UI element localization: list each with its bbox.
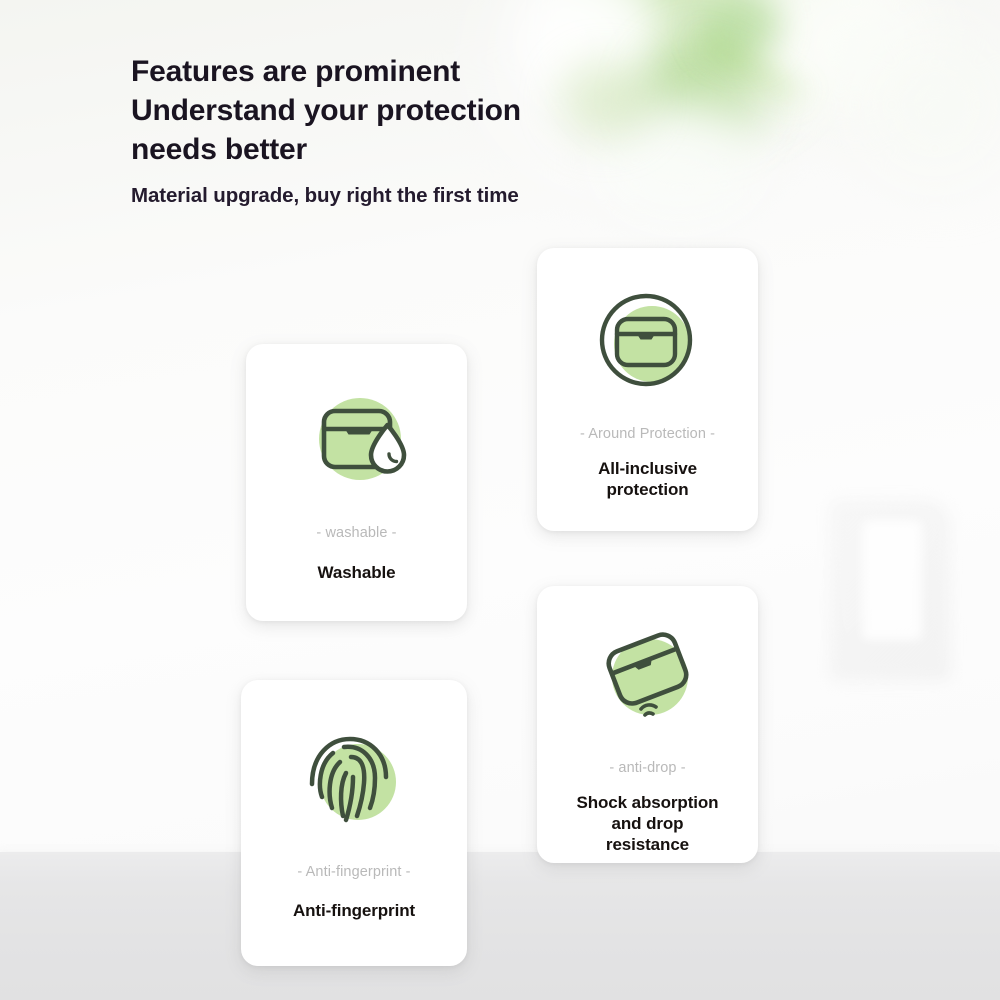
- headline-line-2: Understand your protection: [131, 91, 771, 130]
- headline-line-3: needs better: [131, 130, 771, 169]
- washable-icon-wrap: [298, 389, 416, 489]
- background-object-highlight: [862, 520, 922, 640]
- around-protection-icon-wrap: [592, 286, 704, 398]
- around-protection-title: All-inclusive protection: [598, 458, 697, 500]
- fingerprint-icon: [301, 728, 407, 832]
- headline-line-1: Features are prominent: [131, 52, 771, 91]
- feature-card-anti-fingerprint[interactable]: - Anti-fingerprint - Anti-fingerprint: [241, 680, 467, 966]
- around-protection-title-line-1: All-inclusive: [598, 458, 697, 479]
- feature-card-washable[interactable]: - washable - Washable: [246, 344, 467, 621]
- poster-canvas: Features are prominent Understand your p…: [0, 0, 1000, 1000]
- case-in-ring-icon: [592, 286, 704, 398]
- anti-drop-title-line-2: and drop: [577, 813, 719, 834]
- washable-title: Washable: [318, 562, 396, 583]
- anti-drop-caption: - anti-drop -: [609, 760, 685, 776]
- washable-caption: - washable -: [316, 525, 396, 541]
- around-protection-caption: - Around Protection -: [580, 426, 715, 442]
- table-surface: [0, 852, 1000, 1000]
- anti-drop-title-line-1: Shock absorption: [577, 792, 719, 813]
- tilted-case-shockwave-icon: [592, 620, 704, 732]
- around-protection-title-line-2: protection: [598, 479, 697, 500]
- case-with-water-drop-icon: [298, 389, 416, 489]
- anti-fingerprint-icon-wrap: [301, 728, 407, 832]
- anti-drop-icon-wrap: [592, 620, 704, 732]
- headline-block: Features are prominent Understand your p…: [131, 52, 771, 208]
- feature-card-around-protection[interactable]: - Around Protection - All-inclusive prot…: [537, 248, 758, 531]
- feature-card-anti-drop[interactable]: - anti-drop - Shock absorption and drop …: [537, 586, 758, 863]
- anti-drop-title: Shock absorption and drop resistance: [577, 792, 719, 855]
- anti-drop-title-line-3: resistance: [577, 834, 719, 855]
- anti-fingerprint-title: Anti-fingerprint: [293, 900, 415, 921]
- bokeh-blossom-5: [860, 30, 1000, 180]
- anti-fingerprint-caption: - Anti-fingerprint -: [297, 864, 410, 880]
- subtitle: Material upgrade, buy right the first ti…: [131, 184, 771, 208]
